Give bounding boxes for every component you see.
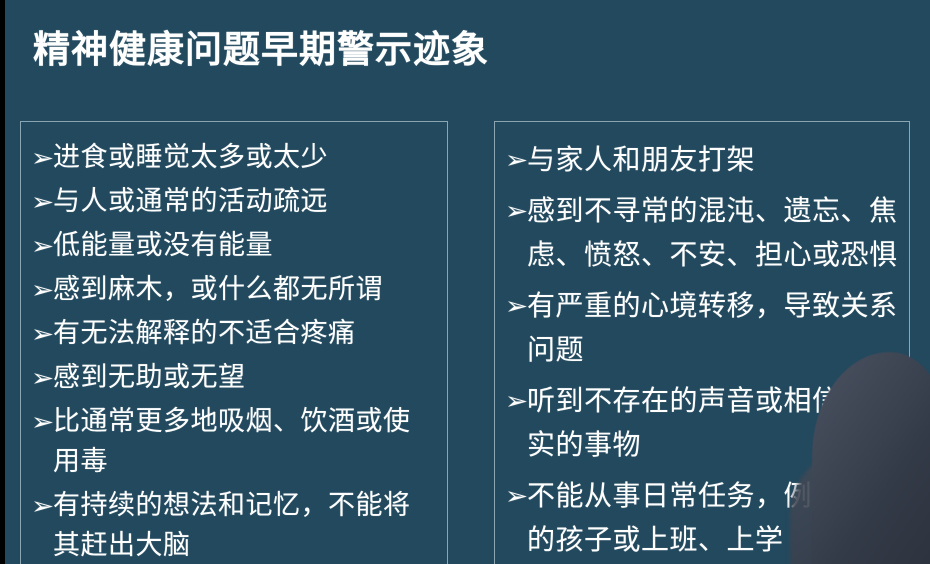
list-item: ➢ 比通常更多地吸烟、饮酒或使用毒 (31, 402, 437, 482)
list-item-label: 感到麻木，或什么都无所谓 (53, 270, 437, 310)
arrow-bullet-icon: ➢ (31, 486, 56, 526)
list-item-label: 与人或通常的活动疏远 (53, 182, 437, 222)
left-bullet-list: ➢ 进食或睡觉太多或太少 ➢ 与人或通常的活动疏远 ➢ 低能量或没有能量 ➢ 感… (21, 122, 447, 564)
list-item: ➢ 有持续的想法和记忆，不能将其赶出大脑 (31, 486, 437, 564)
list-item-label: 有无法解释的不适合疼痛 (53, 314, 437, 354)
list-item: ➢ 与人或通常的活动疏远 (31, 182, 437, 222)
list-item-label: 有严重的心境转移，导致关系问题 (527, 284, 899, 372)
arrow-bullet-icon: ➢ (31, 402, 56, 442)
slide-canvas: 精神健康问题早期警示迹象 ➢ 进食或睡觉太多或太少 ➢ 与人或通常的活动疏远 ➢… (0, 0, 930, 564)
list-item: ➢ 感到不寻常的混沌、遗忘、焦虑、愤怒、不安、担心或恐惧 (505, 189, 899, 277)
list-item: ➢ 有严重的心境转移，导致关系问题 (505, 284, 899, 372)
arrow-bullet-icon: ➢ (505, 189, 530, 233)
list-item-label: 感到无助或无望 (53, 358, 437, 398)
arrow-bullet-icon: ➢ (505, 284, 530, 328)
arrow-bullet-icon: ➢ (505, 474, 530, 518)
arrow-bullet-icon: ➢ (31, 314, 56, 354)
arrow-bullet-icon: ➢ (31, 182, 56, 222)
list-item-label: 感到不寻常的混沌、遗忘、焦虑、愤怒、不安、担心或恐惧 (527, 189, 899, 277)
list-item-label: 有持续的想法和记忆，不能将其赶出大脑 (53, 486, 437, 564)
arrow-bullet-icon: ➢ (31, 270, 56, 310)
list-item-label: 与家人和朋友打架 (527, 138, 899, 182)
arrow-bullet-icon: ➢ (505, 379, 530, 423)
left-black-edge (0, 0, 5, 564)
arrow-bullet-icon: ➢ (505, 138, 530, 182)
arrow-bullet-icon: ➢ (31, 358, 56, 398)
list-item: ➢ 感到麻木，或什么都无所谓 (31, 270, 437, 310)
list-item: ➢ 有无法解释的不适合疼痛 (31, 314, 437, 354)
page-title: 精神健康问题早期警示迹象 (33, 26, 489, 74)
left-content-box: ➢ 进食或睡觉太多或太少 ➢ 与人或通常的活动疏远 ➢ 低能量或没有能量 ➢ 感… (20, 121, 448, 564)
arrow-bullet-icon: ➢ (31, 138, 56, 178)
list-item: ➢ 进食或睡觉太多或太少 (31, 138, 437, 178)
list-item: ➢ 感到无助或无望 (31, 358, 437, 398)
list-item: ➢ 与家人和朋友打架 (505, 138, 899, 182)
list-item: ➢ 低能量或没有能量 (31, 226, 437, 266)
arrow-bullet-icon: ➢ (31, 226, 56, 266)
list-item-label: 比通常更多地吸烟、饮酒或使用毒 (53, 402, 437, 482)
list-item-label: 进食或睡觉太多或太少 (53, 138, 437, 178)
list-item-label: 低能量或没有能量 (53, 226, 437, 266)
